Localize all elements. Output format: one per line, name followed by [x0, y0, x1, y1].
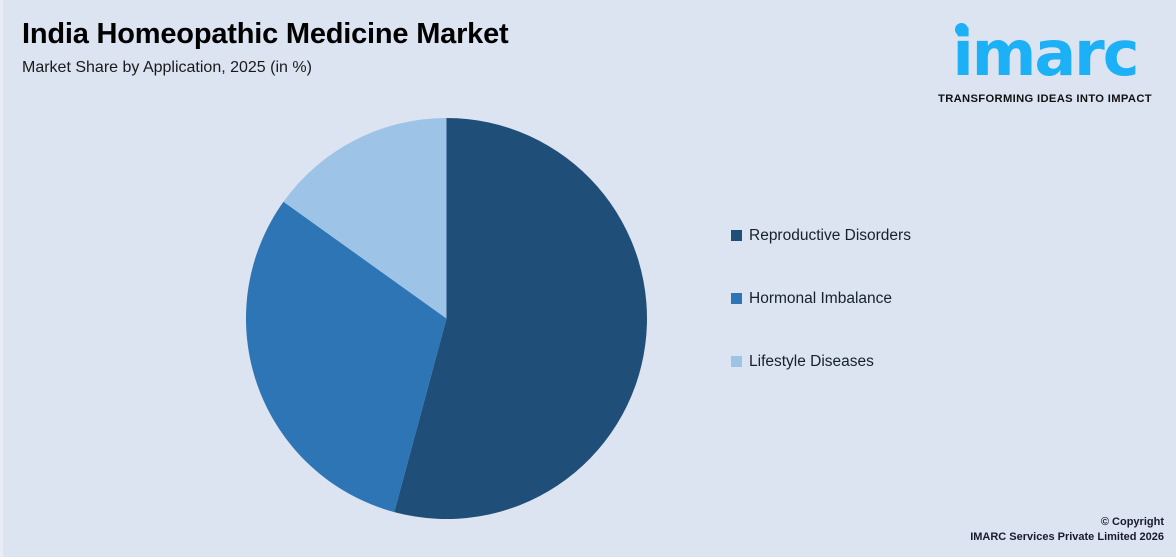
legend-swatch-icon	[731, 356, 742, 367]
legend-item-label: Lifestyle Diseases	[749, 352, 874, 371]
pie-chart	[246, 118, 647, 519]
canvas-left-edge	[0, 0, 3, 557]
legend-swatch-icon	[731, 230, 742, 241]
logo-wordmark: imarc	[922, 18, 1168, 90]
legend-item-label: Reproductive Disorders	[749, 226, 911, 245]
chart-canvas: India Homeopathic Medicine Market Market…	[0, 0, 1176, 557]
legend-item[interactable]: Hormonal Imbalance	[731, 289, 911, 352]
legend-item-label: Hormonal Imbalance	[749, 289, 892, 308]
copyright-notice: © Copyright IMARC Services Private Limit…	[970, 515, 1164, 545]
copyright-line-2: IMARC Services Private Limited 2026	[970, 530, 1164, 545]
page-subtitle: Market Share by Application, 2025 (in %)	[22, 59, 312, 77]
legend-item[interactable]: Reproductive Disorders	[731, 226, 911, 289]
logo-tagline: TRANSFORMING IDEAS INTO IMPACT	[922, 93, 1168, 105]
legend-swatch-icon	[731, 293, 742, 304]
page-title: India Homeopathic Medicine Market	[22, 18, 509, 51]
copyright-line-1: © Copyright	[970, 515, 1164, 530]
legend-item[interactable]: Lifestyle Diseases	[731, 352, 911, 415]
pie-chart-svg	[246, 118, 647, 519]
chart-legend: Reproductive DisordersHormonal Imbalance…	[731, 226, 911, 415]
imarc-logo: imarc TRANSFORMING IDEAS INTO IMPACT	[922, 10, 1168, 106]
